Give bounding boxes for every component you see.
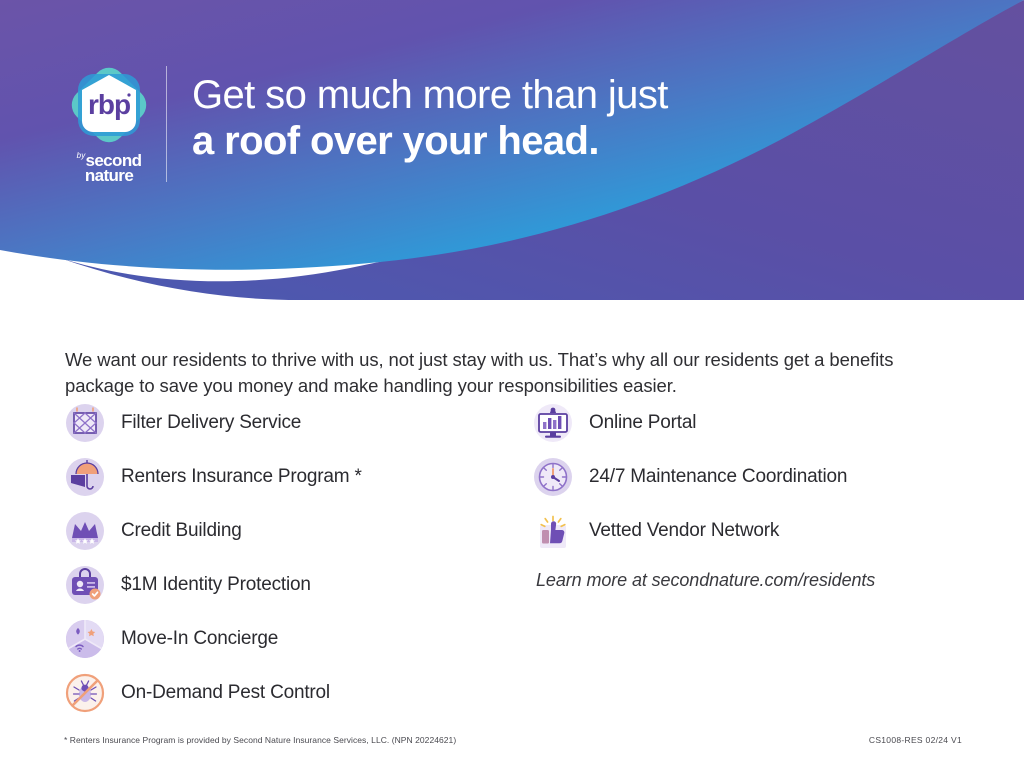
benefit-label: On-Demand Pest Control [121,682,330,704]
monitor-icon [533,403,573,443]
logo-by-text: by [77,151,86,160]
headline-line-2: a roof over your head. [192,120,892,162]
id-badge-shield-icon [65,565,105,605]
benefits-column-left: Filter Delivery Service Renters Insuranc… [65,396,535,720]
rbp-logo-mark-icon: rbp [66,62,152,148]
umbrella-icon [65,457,105,497]
hero-divider [166,66,167,182]
benefit-label: Renters Insurance Program * [121,466,362,488]
credit-crown-icon [65,511,105,551]
logo-nature-text: nature [60,167,158,184]
rbp-logo-byline: bysecond nature [60,152,158,184]
benefit-label: 24/7 Maintenance Coordination [589,466,847,488]
intro-paragraph: We want our residents to thrive with us,… [65,347,945,401]
benefit-renters-insurance-program: Renters Insurance Program * [65,450,535,504]
footer-disclaimer: * Renters Insurance Program is provided … [64,735,456,745]
benefit-move-in-concierge: Move-In Concierge [65,612,535,666]
flyer-page: rbp bysecond nature Get so much more tha… [0,0,1024,769]
benefits-column-right: Online Portal 24 [533,396,965,591]
hero-banner: rbp bysecond nature Get so much more tha… [0,0,1024,300]
benefit-label: Move-In Concierge [121,628,278,650]
pest-control-icon [65,673,105,713]
hero-headline: Get so much more than just a roof over y… [192,74,892,163]
benefit-identity-protection: $1M Identity Protection [65,558,535,612]
benefit-filter-delivery-service: Filter Delivery Service [65,396,535,450]
benefit-label: Filter Delivery Service [121,412,301,434]
rbp-logo: rbp bysecond nature [60,62,158,184]
benefit-label: Credit Building [121,520,242,542]
headline-line-1: Get so much more than just [192,74,892,116]
benefit-online-portal: Online Portal [533,396,965,450]
svg-text:rbp: rbp [88,89,130,120]
benefit-label: $1M Identity Protection [121,574,311,596]
thumbs-up-icon [533,511,573,551]
footer-doc-code: CS1008-RES 02/24 V1 [869,735,962,745]
benefit-vetted-vendor-network: Vetted Vendor Network [533,504,965,558]
benefit-credit-building: Credit Building [65,504,535,558]
clock-icon [533,457,573,497]
benefit-label: Online Portal [589,412,696,434]
air-filter-icon [65,403,105,443]
learn-more-text[interactable]: Learn more at secondnature.com/residents [536,570,965,591]
benefit-pest-control: On-Demand Pest Control [65,666,535,720]
benefit-maintenance-coordination: 24/7 Maintenance Coordination [533,450,965,504]
move-in-concierge-icon [65,619,105,659]
benefit-label: Vetted Vendor Network [589,520,779,542]
